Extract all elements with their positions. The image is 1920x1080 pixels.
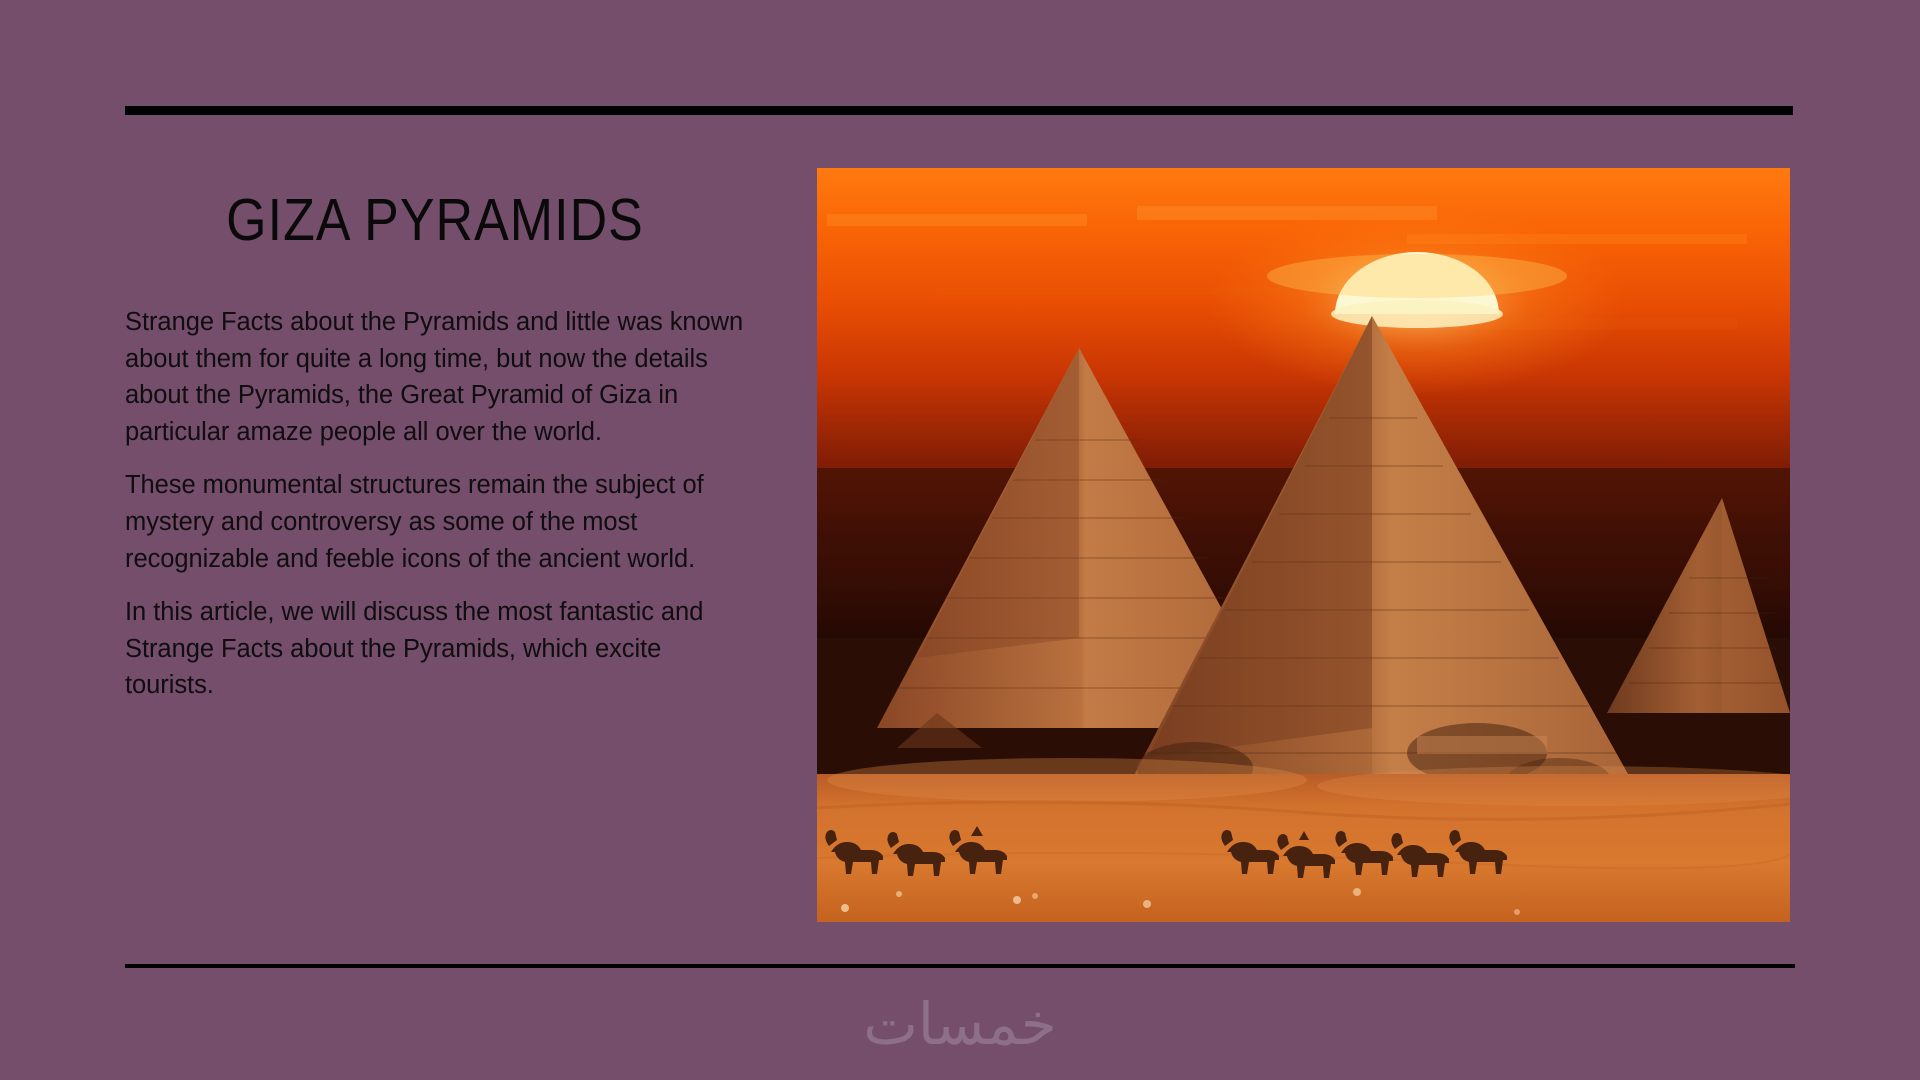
top-divider-rule: [125, 106, 1793, 115]
body-copy: Strange Facts about the Pyramids and lit…: [125, 304, 745, 704]
paragraph-1: Strange Facts about the Pyramids and lit…: [125, 304, 750, 450]
bottom-divider-rule: [125, 964, 1795, 968]
pyramids-photo: [817, 168, 1790, 922]
paragraph-3: In this article, we will discuss the mos…: [125, 594, 750, 704]
page-title: GIZA PYRAMIDS: [162, 190, 708, 252]
slide-canvas: GIZA PYRAMIDS Strange Facts about the Py…: [0, 0, 1920, 1080]
khamsat-watermark: خمسات: [0, 993, 1920, 1055]
pyramids-illustration: [817, 168, 1790, 922]
left-text-column: GIZA PYRAMIDS Strange Facts about the Py…: [125, 190, 745, 704]
paragraph-2: These monumental structures remain the s…: [125, 467, 750, 577]
